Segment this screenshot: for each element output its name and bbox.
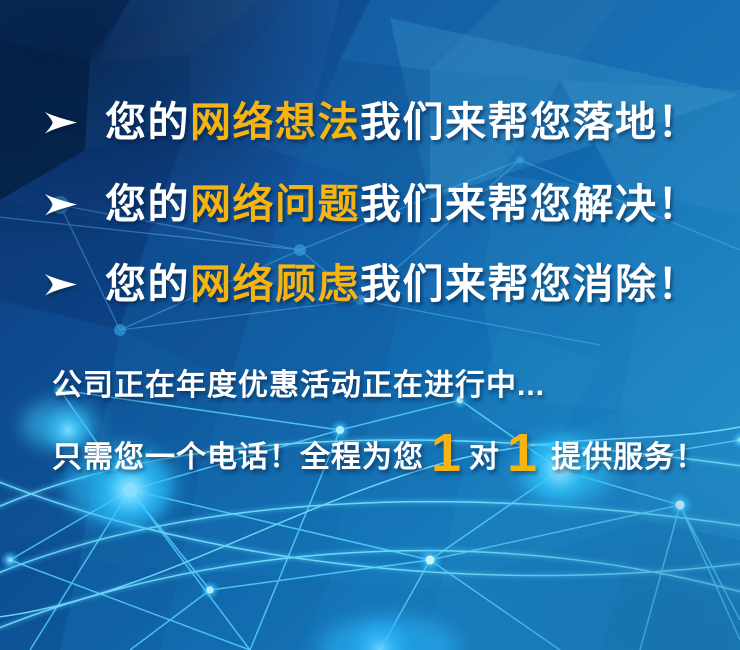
- service-number-2: 1: [500, 432, 545, 475]
- headline-3-prefix: 您的: [105, 261, 190, 307]
- headline-1-suffix: 我们来帮您落地！: [360, 99, 700, 145]
- service-text-middle: 对: [469, 432, 500, 476]
- headline-3-suffix: 我们来帮您消除！: [360, 261, 700, 307]
- headline-1-highlight: 网络想法: [190, 99, 360, 145]
- headline-row-3: 您的网络顾虑我们来帮您消除！: [44, 264, 700, 305]
- service-text-part2: 提供服务！: [551, 432, 706, 476]
- headline-2-suffix: 我们来帮您解决！: [360, 181, 700, 227]
- service-text-part1: 只需您一个电话！全程为您: [52, 432, 424, 476]
- headline-2-text: 您的网络问题我们来帮您解决！: [105, 184, 700, 225]
- arrow-bullet-icon: [44, 190, 78, 220]
- headline-3-text: 您的网络顾虑我们来帮您消除！: [105, 264, 700, 305]
- headline-row-2: 您的网络问题我们来帮您解决！: [44, 184, 700, 225]
- service-number-1: 1: [424, 432, 469, 475]
- service-text: 只需您一个电话！全程为您 1 对 1 提供服务！: [52, 428, 706, 476]
- arrow-bullet-icon: [44, 270, 78, 300]
- headline-3-highlight: 网络顾虑: [190, 261, 360, 307]
- promo-text: 公司正在年度优惠活动正在进行中...: [52, 360, 545, 404]
- promo-banner: 您的网络想法我们来帮您落地！ 您的网络问题我们来帮您解决！ 您的网络顾虑我们来帮…: [0, 0, 740, 650]
- headline-1-text: 您的网络想法我们来帮您落地！: [105, 102, 700, 143]
- headline-row-1: 您的网络想法我们来帮您落地！: [44, 102, 700, 143]
- headline-2-prefix: 您的: [105, 181, 190, 227]
- headline-2-highlight: 网络问题: [190, 181, 360, 227]
- banner-content: 您的网络想法我们来帮您落地！ 您的网络问题我们来帮您解决！ 您的网络顾虑我们来帮…: [0, 0, 740, 650]
- headline-1-prefix: 您的: [105, 99, 190, 145]
- arrow-bullet-icon: [44, 108, 78, 138]
